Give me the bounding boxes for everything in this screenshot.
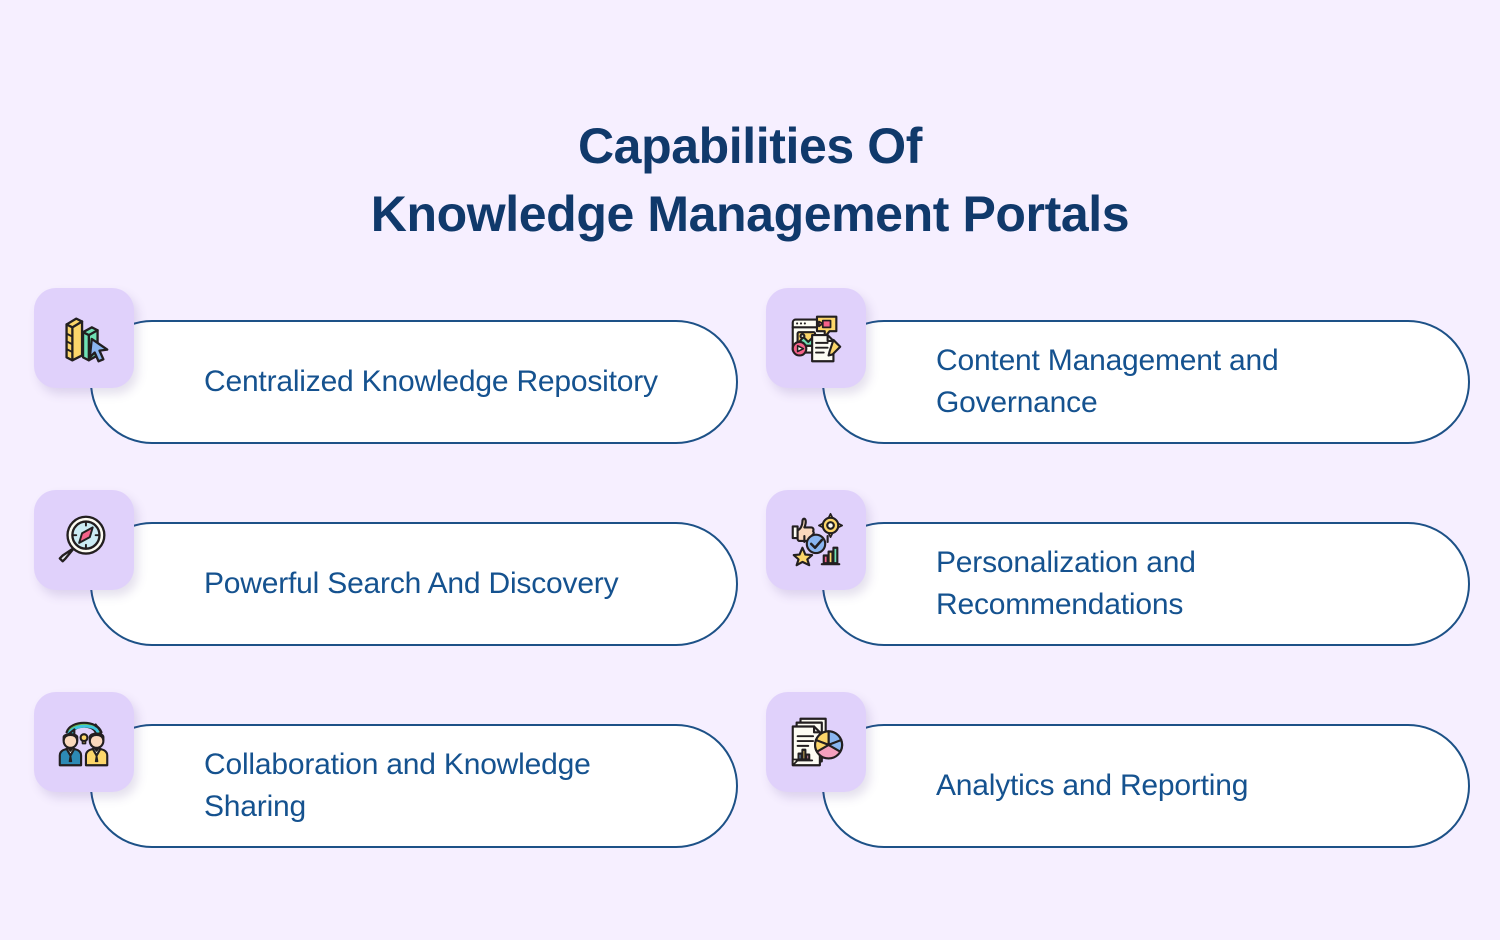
thumbs-up-gear-star-chart-icon	[785, 509, 847, 571]
documents-pie-chart-icon	[785, 711, 847, 773]
capability-card-body: Analytics and Reporting	[822, 724, 1470, 848]
page-title-line-1: Capabilities Of	[0, 112, 1500, 180]
capability-card-label: Personalization and Recommendations	[824, 542, 1468, 626]
books-cursor-icon	[53, 307, 115, 369]
capability-icon-tile	[766, 288, 866, 388]
capability-icon-tile	[34, 490, 134, 590]
page-title-line-2: Knowledge Management Portals	[0, 180, 1500, 248]
capability-card-analytics-and-reporting[interactable]: Analytics and Reporting	[762, 692, 1474, 852]
capability-card-body: Collaboration and Knowledge Sharing	[90, 724, 738, 848]
media-document-edit-icon	[785, 307, 847, 369]
capability-card-label: Collaboration and Knowledge Sharing	[92, 744, 736, 828]
capability-icon-tile	[34, 692, 134, 792]
capability-card-personalization-and-recommendations[interactable]: Personalization and Recommendations	[762, 490, 1474, 650]
two-people-exchange-idea-icon	[53, 711, 115, 773]
magnifier-compass-icon	[53, 509, 115, 571]
capability-icon-tile	[766, 692, 866, 792]
capability-card-label: Centralized Knowledge Repository	[92, 361, 698, 403]
page-title: Capabilities Of Knowledge Management Por…	[0, 112, 1500, 248]
capability-card-body: Content Management and Governance	[822, 320, 1470, 444]
capability-card-collaboration-and-knowledge-sharing[interactable]: Collaboration and Knowledge Sharing	[30, 692, 742, 852]
infographic-page: Capabilities Of Knowledge Management Por…	[0, 0, 1500, 940]
capability-icon-tile	[766, 490, 866, 590]
capability-card-body: Personalization and Recommendations	[822, 522, 1470, 646]
capability-card-content-management-and-governance[interactable]: Content Management and Governance	[762, 288, 1474, 448]
capabilities-grid: Centralized Knowledge Repository	[30, 288, 1474, 864]
capability-card-body: Centralized Knowledge Repository	[90, 320, 738, 444]
capability-icon-tile	[34, 288, 134, 388]
capability-card-label: Content Management and Governance	[824, 340, 1468, 424]
capability-card-centralized-knowledge-repository[interactable]: Centralized Knowledge Repository	[30, 288, 742, 448]
capability-card-label: Powerful Search And Discovery	[92, 563, 658, 605]
capability-card-powerful-search-and-discovery[interactable]: Powerful Search And Discovery	[30, 490, 742, 650]
capability-card-label: Analytics and Reporting	[824, 765, 1288, 807]
capability-card-body: Powerful Search And Discovery	[90, 522, 738, 646]
